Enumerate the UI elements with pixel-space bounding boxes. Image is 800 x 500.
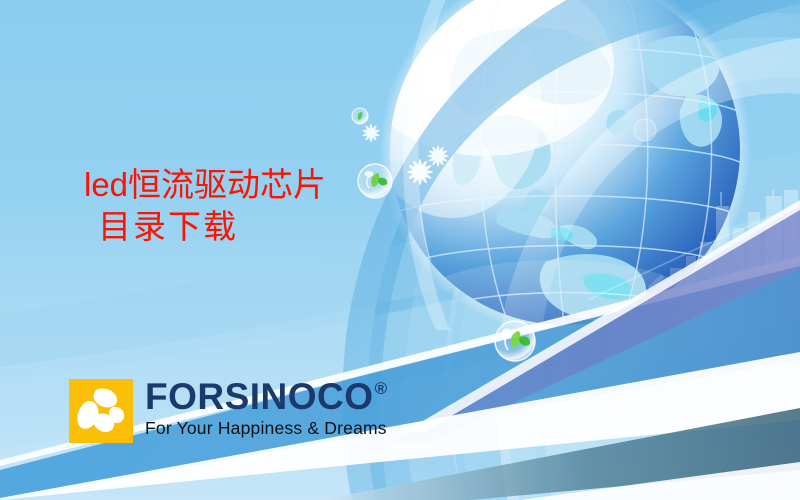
bubble-with-leaf [358, 164, 392, 198]
bubble-with-leaf [495, 321, 535, 361]
headline-line-1: led恒流驱动芯片 [84, 164, 326, 206]
globe-landmasses [451, 27, 722, 348]
globe-illustration [358, 0, 751, 348]
foreground-arc-group [342, 0, 800, 500]
globe-latitude-lines [390, 47, 744, 306]
globe-longitude-lines [416, 0, 711, 332]
light-streak-group [588, 206, 800, 344]
arc-ribbon-group [367, 0, 800, 500]
bubble-small [352, 108, 368, 124]
starburst-sparkle [407, 159, 433, 185]
logo-wordmark: FORSINOCO [145, 379, 374, 415]
logo-wordmark-row: FORSINOCO® [145, 379, 388, 415]
globe-accent-patches [550, 97, 717, 299]
starburst-sparkle [362, 124, 380, 142]
logo-text-block: FORSINOCO® For Your Happiness & Dreams [145, 379, 388, 439]
sparkle-group [362, 124, 449, 185]
starburst-sparkle [428, 146, 449, 167]
bubble-small [634, 119, 656, 141]
brand-logo[interactable]: FORSINOCO® For Your Happiness & Dreams [69, 379, 388, 443]
logo-tagline: For Your Happiness & Dreams [145, 418, 388, 439]
city-skyline-silhouette [642, 178, 798, 356]
headline-block: led恒流驱动芯片 目录下载 [84, 164, 326, 248]
promo-banner: led恒流驱动芯片 目录下载 FORSINOCO® For Your Happi… [0, 0, 800, 500]
bubble-group [352, 108, 656, 361]
four-petal-flower-icon [69, 379, 133, 443]
headline-line-2: 目录下载 [84, 206, 326, 248]
registered-trademark-icon: ® [375, 380, 388, 397]
